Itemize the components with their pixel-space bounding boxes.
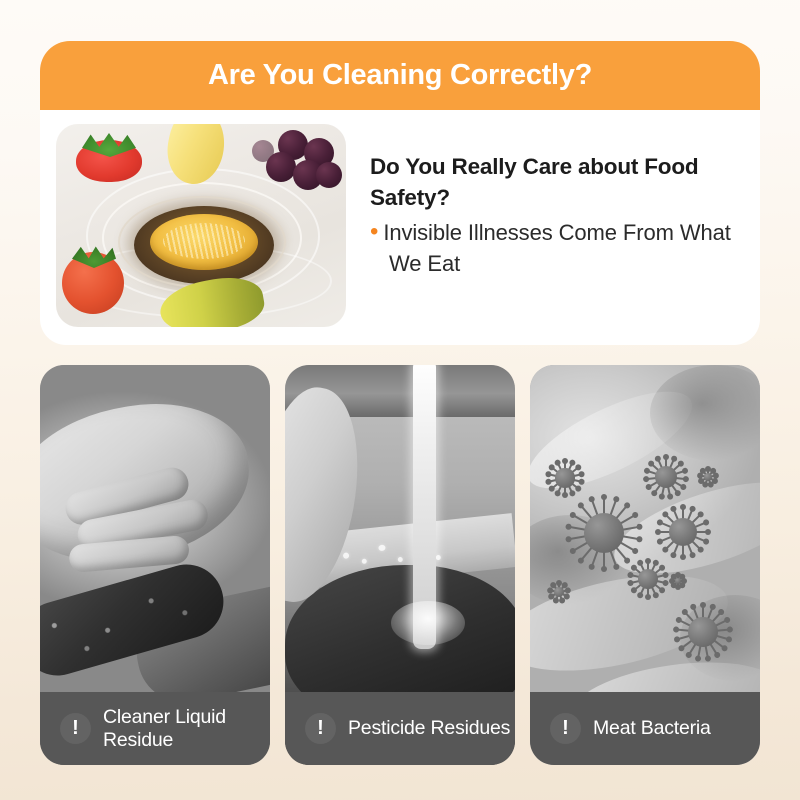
bacteria-core (669, 518, 697, 546)
bacteria-core (554, 587, 564, 597)
panel-cleaner-liquid-residue[interactable]: ! Cleaner Liquid Residue (40, 365, 270, 765)
water-splash-icon (391, 601, 465, 645)
panel-caption-label: Cleaner Liquid Residue (103, 706, 270, 752)
hand-icon (40, 389, 260, 577)
grapes-icon (252, 130, 344, 196)
strawberry-icon (76, 140, 142, 182)
alert-exclamation-icon: ! (305, 713, 336, 744)
water-droplet-icon (398, 557, 403, 562)
bacteria-icon (548, 461, 582, 495)
bacteria-icon (676, 605, 730, 659)
water-ripple-icon (118, 196, 286, 288)
water-droplet-icon (343, 552, 350, 559)
bullet-dot-icon: • (370, 218, 383, 245)
fruits-in-water-photo (56, 124, 346, 327)
bacteria-icon (700, 469, 716, 485)
intro-text-block: Do You Really Care about Food Safety? •I… (346, 124, 742, 279)
water-droplet-icon (362, 559, 367, 564)
intro-bullet-label: Invisible Illnesses Come From What We Ea… (383, 220, 730, 275)
bacteria-icon (658, 507, 708, 557)
bacteria-core (555, 468, 574, 487)
grape-berry (316, 162, 342, 188)
panel-caption-bar: ! Cleaner Liquid Residue (40, 692, 270, 765)
panel-meat-bacteria[interactable]: ! Meat Bacteria (530, 365, 760, 765)
bacteria-core (584, 513, 624, 553)
panel-caption-bar: ! Meat Bacteria (530, 692, 760, 765)
panel-caption-bar: ! Pesticide Residues (285, 692, 515, 765)
bacteria-icon (568, 497, 640, 569)
infographic-poster: Are You Cleaning Correctly? D (0, 0, 800, 800)
intro-heading: Do You Really Care about Food Safety? (370, 152, 736, 213)
intro-bullet-item: •Invisible Illnesses Come From What We E… (370, 218, 736, 279)
alert-exclamation-icon: ! (60, 713, 91, 744)
alert-exclamation-icon: ! (550, 713, 581, 744)
page-title: Are You Cleaning Correctly? (208, 59, 592, 92)
panel-caption-label: Meat Bacteria (593, 717, 711, 740)
panel-pesticide-residues[interactable]: ! Pesticide Residues (285, 365, 515, 765)
bacteria-icon (550, 583, 568, 601)
intro-card: Do You Really Care about Food Safety? •I… (40, 110, 760, 345)
bacteria-icon (630, 561, 666, 597)
water-droplet-icon (378, 545, 386, 552)
panel-caption-label: Pesticide Residues (348, 717, 510, 740)
panel-row: ! Cleaner Liquid Residue (40, 365, 760, 765)
bacteria-icon (646, 457, 686, 497)
bacteria-icon (672, 575, 684, 587)
header-banner: Are You Cleaning Correctly? (40, 41, 760, 110)
bacteria-core (688, 617, 718, 647)
tomato-icon (62, 252, 124, 314)
bacteria-core (638, 569, 658, 589)
water-droplet-icon (436, 555, 441, 560)
grape-berry (266, 152, 296, 182)
